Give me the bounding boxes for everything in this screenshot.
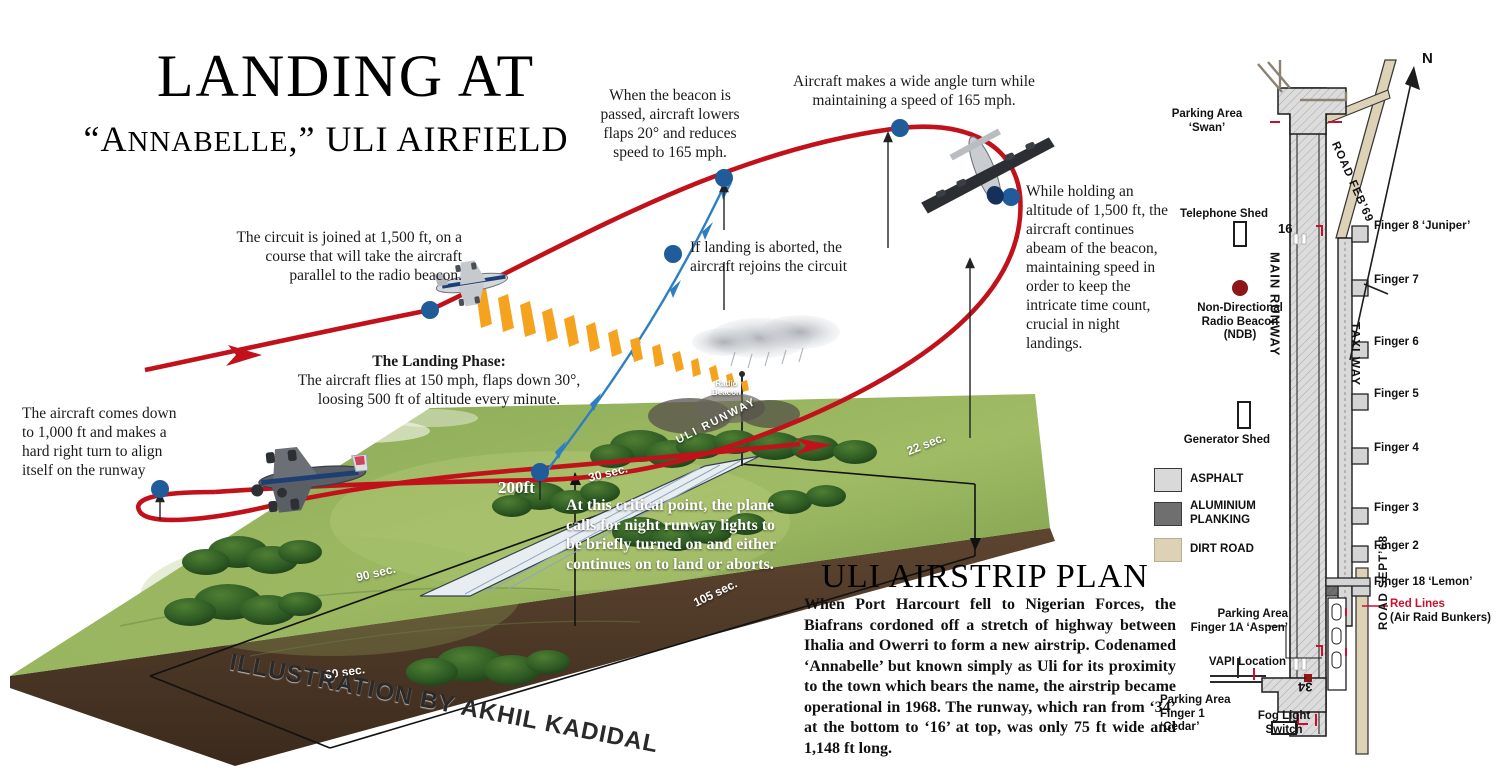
node-wide-turn xyxy=(891,119,909,137)
infographic-canvas: LANDING AT “ANNABELLE,” ULI AIRFIELD xyxy=(0,0,1500,783)
north-arrow-head xyxy=(1405,66,1420,90)
taxi-way-shape xyxy=(1338,238,1352,626)
legend-label-aluminium: ALUMINIUM PLANKING xyxy=(1190,500,1256,527)
note-beacon-passed: When the beacon is passed, aircraft lowe… xyxy=(588,86,752,162)
landing-phase-heading: The Landing Phase: xyxy=(372,353,506,370)
plan-label-vapi: VAPI Location xyxy=(1140,656,1286,670)
plan-finger-6: Finger 6 xyxy=(1374,336,1419,350)
plan-finger-3: Finger 3 xyxy=(1374,502,1419,516)
plan-label-runway-34: 34 xyxy=(1298,680,1312,694)
plan-label-main-runway: MAIN RUNWAY xyxy=(1268,252,1282,356)
ndb-marker xyxy=(1232,280,1248,296)
parking-aspen-shape xyxy=(1328,598,1346,690)
cedar-line3: ‘Cedar’ xyxy=(1160,721,1231,735)
node-abeam-beacon xyxy=(1002,188,1020,206)
aspen-line1: Parking Area xyxy=(1128,608,1288,622)
legend-label-dirt-road: DIRT ROAD xyxy=(1190,543,1254,557)
subtitle-rest-1: NNABELLE xyxy=(127,126,288,158)
label-200ft: 200ft xyxy=(498,478,535,498)
ndb-line2: Radio Beacon xyxy=(1160,316,1320,330)
plan-label-red-lines: Red Lines (Air Raid Bunkers) xyxy=(1390,598,1491,625)
ndb-line3: (NDB) xyxy=(1160,329,1320,343)
legend-alum-line1: ALUMINIUM xyxy=(1190,500,1256,514)
radio-beacon-line2: Beacon xyxy=(712,388,741,397)
note-landing-aborted: If landing is aborted, the aircraft rejo… xyxy=(690,238,854,276)
subtitle-cap-a: “A xyxy=(84,119,128,159)
note-wide-turn: Aircraft makes a wide angle turn while m… xyxy=(780,72,1048,110)
landing-phase-body: The aircraft flies at 150 mph, flaps dow… xyxy=(298,372,581,408)
red-lines-line2: (Air Raid Bunkers) xyxy=(1390,612,1491,626)
parking-swan-line2: ‘Swan’ xyxy=(1147,122,1267,136)
radio-beacon-line1: Radio xyxy=(715,379,737,388)
legend-alum-line2: PLANKING xyxy=(1190,514,1256,528)
rain-cloud xyxy=(692,315,840,368)
legend-label-asphalt: ASPHALT xyxy=(1190,473,1243,487)
fog-light-line2: Switch xyxy=(1242,724,1326,738)
finger18-connector xyxy=(1326,578,1370,586)
plan-label-fog-light-switch: Fog Light Switch xyxy=(1242,710,1326,737)
plan-description: When Port Harcourt fell to Nigerian Forc… xyxy=(804,595,1176,759)
plan-finger-4: Finger 4 xyxy=(1374,442,1419,456)
ndb-line1: Non-Directional xyxy=(1160,302,1320,316)
plan-title: ULI AIRSTRIP PLAN xyxy=(790,558,1180,596)
plan-label-generator-shed: Generator Shed xyxy=(1110,434,1270,448)
page-subtitle: “ANNABELLE,” ULI AIRFIELD xyxy=(46,120,606,161)
plan-label-runway-16: 16 xyxy=(1278,222,1292,236)
plan-finger-5: Finger 5 xyxy=(1374,388,1419,402)
note-comes-down: The aircraft comes down to 1,000 ft and … xyxy=(22,404,184,480)
plan-finger-7: Finger 7 xyxy=(1374,274,1419,288)
note-landing-phase: The Landing Phase: The aircraft flies at… xyxy=(296,352,582,409)
plan-label-parking-aspen: Parking Area Finger 1A ‘Aspen’ xyxy=(1128,608,1288,635)
parking-swan-line1: Parking Area xyxy=(1147,108,1267,122)
plan-label-telephone-shed: Telephone Shed xyxy=(1112,208,1268,222)
main-runway-shape xyxy=(1290,88,1326,736)
legend-swatch-aluminium xyxy=(1154,502,1182,526)
plan-finger-8: Finger 8 ‘Juniper’ xyxy=(1374,220,1470,234)
subtitle-rest-2: ,” ULI AIRFIELD xyxy=(289,119,569,159)
legend-swatch-asphalt xyxy=(1154,468,1182,492)
cedar-line2: Finger 1 xyxy=(1160,708,1231,722)
legend-swatch-dirt-road xyxy=(1154,538,1182,562)
plan-label-north: N xyxy=(1422,52,1433,66)
label-radio-beacon: Radio Beacon xyxy=(712,379,741,397)
plan-label-parking-cedar: Parking Area Finger 1 ‘Cedar’ xyxy=(1160,694,1231,735)
note-circuit-joined: The circuit is joined at 1,500 ft, on a … xyxy=(236,228,462,285)
plan-finger-2: Finger 2 xyxy=(1374,540,1419,554)
plan-finger-18: Finger 18 ‘Lemon’ xyxy=(1374,576,1472,590)
node-abort-decision xyxy=(664,245,682,263)
plan-label-parking-swan: Parking Area ‘Swan’ xyxy=(1147,108,1267,135)
node-beacon-passed xyxy=(715,169,733,187)
generator-shed-box xyxy=(1238,402,1250,428)
north-arrow xyxy=(1350,78,1412,360)
uli-airstrip-plan: Parking Area ‘Swan’ Telephone Shed Non-D… xyxy=(1150,30,1500,770)
page-title: LANDING AT xyxy=(76,46,616,106)
plan-label-taxi-way: TAXI WAY xyxy=(1348,322,1362,386)
parking-swan-shape xyxy=(1258,60,1346,134)
cedar-line1: Parking Area xyxy=(1160,694,1231,708)
fog-light-line1: Fog Light xyxy=(1242,710,1326,724)
aspen-line2: Finger 1A ‘Aspen’ xyxy=(1128,622,1288,636)
red-lines-line1: Red Lines xyxy=(1390,598,1491,612)
note-critical-point: At this critical point, the plane calls … xyxy=(566,496,778,574)
telephone-shed-box xyxy=(1234,222,1246,246)
plan-label-ndb: Non-Directional Radio Beacon (NDB) xyxy=(1160,302,1320,343)
